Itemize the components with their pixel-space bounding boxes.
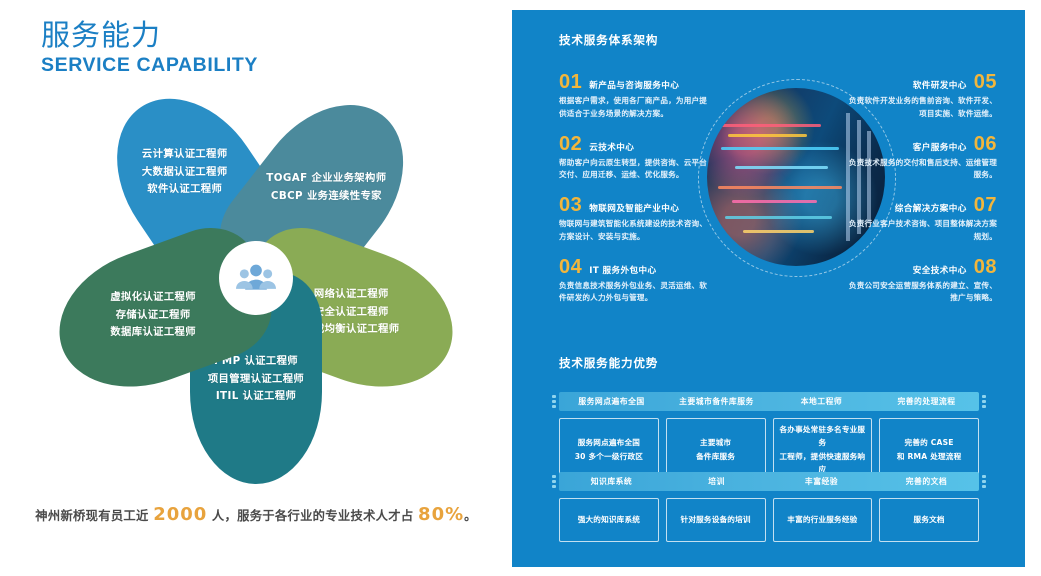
item-description: 负责行业客户技术咨询、项目整体解决方案规划。: [845, 218, 997, 244]
right-panel: 技术服务体系架构 01 新产品与咨询服务中心 根据客户需求，使用各厂商产品，为用…: [512, 10, 1025, 567]
notch-right-decoration: [982, 395, 986, 408]
page-title: 服务能力 SERVICE CAPABILITY: [41, 18, 258, 78]
item-number: 04: [559, 257, 582, 277]
notch-right-decoration: [982, 475, 986, 488]
item-number: 07: [974, 195, 997, 215]
advantages-cell[interactable]: 强大的知识库系统: [559, 498, 659, 542]
item-title: IT 服务外包中心: [589, 264, 656, 276]
architecture-item[interactable]: 01 新产品与咨询服务中心 根据客户需求，使用各厂商产品，为用户提供适合于业务场…: [559, 72, 711, 121]
advantages-header-cell: 培训: [664, 476, 769, 487]
advantages-body-row: 强大的知识库系统 针对服务设备的培训 丰富的行业服务经验 服务文档: [559, 498, 979, 542]
slide-root: 服务能力 SERVICE CAPABILITY 云计算认证工程师大数据认证工程师…: [0, 0, 1041, 576]
advantages-cell[interactable]: 针对服务设备的培训: [666, 498, 766, 542]
caption-part-2: 人，服务于各行业的专业技术人才占: [207, 509, 418, 523]
advantages-table-row-1: 服务网点遍布全国 主要城市备件库服务 本地工程师 完善的处理流程 服务网点遍布全…: [559, 392, 979, 481]
architecture-item[interactable]: 02 云技术中心 帮助客户向云原生转型，提供咨询、云平台交付、应用迁移、运维、优…: [559, 134, 711, 183]
item-number: 02: [559, 134, 582, 154]
item-number: 01: [559, 72, 582, 92]
flower-diagram: 云计算认证工程师大数据认证工程师软件认证工程师 TOGAF 企业业务架构师CBC…: [0, 78, 512, 478]
caption-percentage: 80%: [418, 504, 464, 525]
item-number: 06: [974, 134, 997, 154]
item-title: 物联网及智能产业中心: [589, 202, 679, 214]
item-title: 新产品与咨询服务中心: [589, 79, 679, 91]
architecture-item[interactable]: 客户服务中心 06 负责技术服务的交付和售后支持、运维管理服务。: [845, 134, 997, 183]
advantages-section-title: 技术服务能力优势: [559, 355, 658, 371]
architecture-section-title: 技术服务体系架构: [559, 32, 658, 48]
item-description: 负责软件开发业务的售前咨询、软件开发、项目实施、软件运维。: [845, 95, 997, 121]
advantages-header-row: 服务网点遍布全国 主要城市备件库服务 本地工程师 完善的处理流程: [559, 392, 979, 411]
caption-employee-count: 2000: [153, 504, 207, 525]
item-title: 云技术中心: [589, 141, 634, 153]
architecture-item[interactable]: 软件研发中心 05 负责软件开发业务的售前咨询、软件开发、项目实施、软件运维。: [845, 72, 997, 121]
item-description: 根据客户需求，使用各厂商产品，为用户提供适合于业务场景的解决方案。: [559, 95, 711, 121]
architecture-item[interactable]: 安全技术中心 08 负责公司安全运营服务体系的建立、宣传、推广与策略。: [845, 257, 997, 306]
item-description: 帮助客户向云原生转型，提供咨询、云平台交付、应用迁移、运维、优化服务。: [559, 157, 711, 183]
caption-part-3: 。: [464, 509, 477, 523]
title-english: SERVICE CAPABILITY: [41, 54, 258, 77]
petal-label: 虚拟化认证工程师存储认证工程师数据库认证工程师: [71, 289, 235, 342]
item-description: 负责技术服务的交付和售后支持、运维管理服务。: [845, 157, 997, 183]
advantages-header-cell: 知识库系统: [559, 476, 664, 487]
left-panel: 服务能力 SERVICE CAPABILITY 云计算认证工程师大数据认证工程师…: [0, 0, 512, 576]
item-title: 客户服务中心: [913, 141, 967, 153]
item-title: 安全技术中心: [913, 264, 967, 276]
advantages-header-row: 知识库系统 培训 丰富经验 完善的文档: [559, 472, 979, 491]
people-group-icon: [236, 258, 276, 298]
item-number: 05: [974, 72, 997, 92]
item-description: 物联网与建筑智能化系统建设的技术咨询、方案设计、安装与实施。: [559, 218, 711, 244]
advantages-header-cell: 服务网点遍布全国: [559, 396, 664, 407]
architecture-items-left: 01 新产品与咨询服务中心 根据客户需求，使用各厂商产品，为用户提供适合于业务场…: [559, 72, 711, 318]
architecture-item[interactable]: 04 IT 服务外包中心 负责信息技术服务外包业务、灵活运维、软件研发的人力外包…: [559, 257, 711, 306]
advantages-header-cell: 主要城市备件库服务: [664, 396, 769, 407]
notch-left-decoration: [552, 475, 556, 488]
caption-part-1: 神州新桥现有员工近: [35, 509, 153, 523]
item-title: 软件研发中心: [913, 79, 967, 91]
advantages-table-row-2: 知识库系统 培训 丰富经验 完善的文档 强大的知识库系统 针对服务设备的培训 丰…: [559, 472, 979, 542]
notch-left-decoration: [552, 395, 556, 408]
advantages-header-cell: 完善的文档: [874, 476, 979, 487]
flower-hub: [219, 241, 293, 315]
item-number: 08: [974, 257, 997, 277]
item-title: 综合解决方案中心: [895, 202, 967, 214]
advantages-header-cell: 完善的处理流程: [874, 396, 979, 407]
advantages-header-cell: 丰富经验: [769, 476, 874, 487]
advantages-cell[interactable]: 丰富的行业服务经验: [773, 498, 873, 542]
item-description: 负责信息技术服务外包业务、灵活运维、软件研发的人力外包与管理。: [559, 280, 711, 306]
advantages-cell[interactable]: 服务文档: [879, 498, 979, 542]
item-description: 负责公司安全运营服务体系的建立、宣传、推广与策略。: [845, 280, 997, 306]
item-number: 03: [559, 195, 582, 215]
petal-label: TOGAF 企业业务架构师CBCP 业务连续性专家: [244, 170, 408, 205]
employee-statistic-caption: 神州新桥现有员工近 2000 人，服务于各行业的专业技术人才占 80%。: [0, 504, 512, 525]
advantages-header-cell: 本地工程师: [769, 396, 874, 407]
architecture-item[interactable]: 03 物联网及智能产业中心 物联网与建筑智能化系统建设的技术咨询、方案设计、安装…: [559, 195, 711, 244]
title-chinese: 服务能力: [41, 18, 258, 52]
architecture-items-right: 软件研发中心 05 负责软件开发业务的售前咨询、软件开发、项目实施、软件运维。 …: [845, 72, 997, 318]
architecture-item[interactable]: 综合解决方案中心 07 负责行业客户技术咨询、项目整体解决方案规划。: [845, 195, 997, 244]
